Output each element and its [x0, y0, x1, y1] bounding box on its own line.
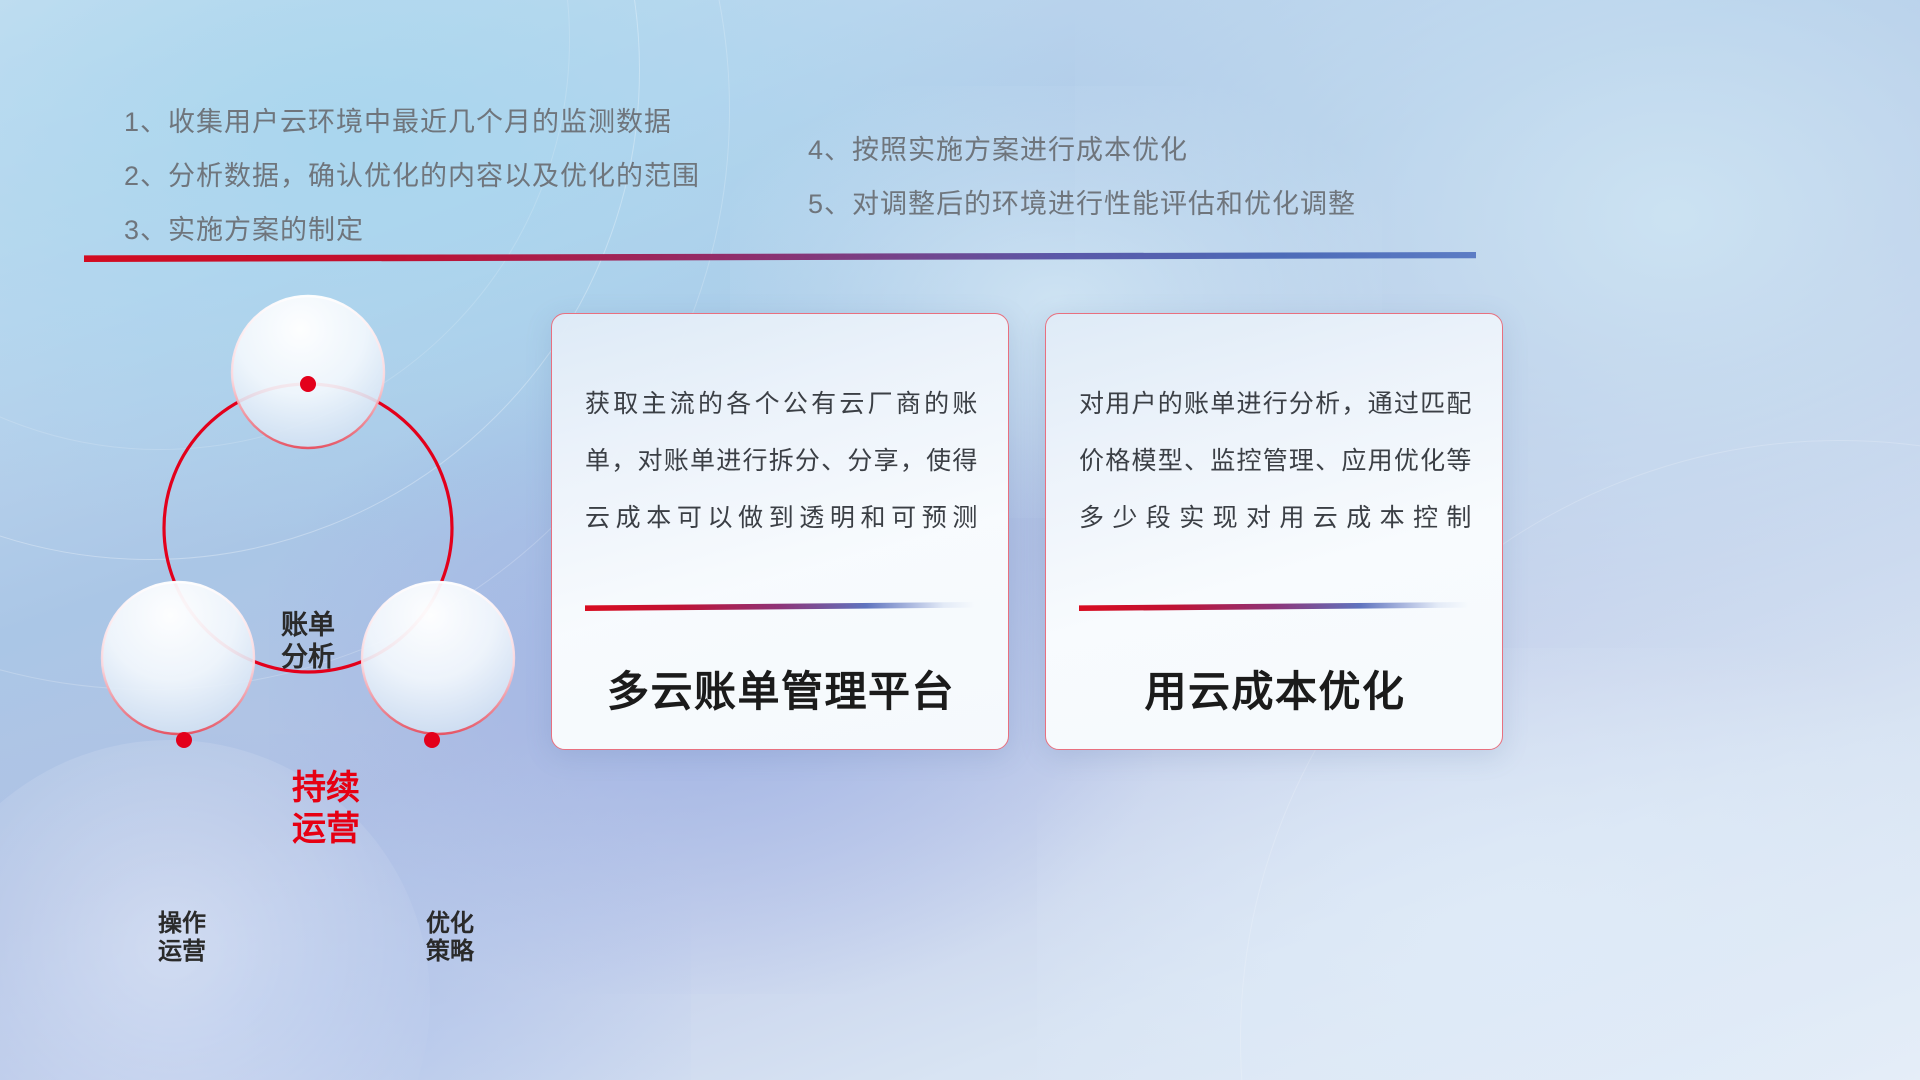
step-item-3: 3、实施方案的制定: [124, 203, 700, 257]
venn-label-top-line1: 账单: [248, 610, 368, 642]
venn-bubble-right: [362, 582, 514, 734]
venn-label-center: 持续 运营: [256, 768, 396, 851]
venn-label-top-line2: 分析: [248, 642, 368, 674]
steps-left-column: 1、收集用户云环境中最近几个月的监测数据 2、分析数据，确认优化的内容以及优化的…: [124, 95, 700, 257]
venn-label-left: 操作 运营: [122, 910, 242, 967]
venn-label-left-line1: 操作: [122, 910, 242, 938]
venn-label-center-line2: 运营: [256, 809, 396, 850]
step-item-1: 1、收集用户云环境中最近几个月的监测数据: [124, 95, 700, 149]
venn-node-dot-right: [424, 732, 440, 748]
venn-diagram-svg: [80, 280, 550, 780]
info-card-cost-optimization[interactable]: 对用户的账单进行分析，通过匹配价格模型、监控管理、应用优化等多少段实现对用云成本…: [1045, 313, 1503, 750]
venn-label-left-line2: 运营: [122, 938, 242, 966]
steps-right-column: 4、按照实施方案进行成本优化 5、对调整后的环境进行性能评估和优化调整: [808, 123, 1356, 231]
info-card-billing-platform[interactable]: 获取主流的各个公有云厂商的账单，对账单进行拆分、分享，使得云成本可以做到透明和可…: [551, 313, 1009, 750]
info-card-title: 用云成本优化: [1079, 658, 1471, 719]
info-card-divider: [1079, 602, 1469, 611]
venn-diagram: 账单 分析 操作 运营 优化 策略 持续 运营: [80, 280, 550, 780]
venn-node-dot-left: [176, 732, 192, 748]
venn-label-center-line1: 持续: [256, 768, 396, 809]
info-card-body: 获取主流的各个公有云厂商的账单，对账单进行拆分、分享，使得云成本可以做到透明和可…: [585, 376, 978, 547]
step-item-5: 5、对调整后的环境进行性能评估和优化调整: [808, 177, 1356, 231]
venn-label-right-line1: 优化: [390, 910, 510, 938]
venn-node-dot-top: [300, 376, 316, 392]
venn-label-top: 账单 分析: [248, 610, 368, 674]
venn-label-right-line2: 策略: [390, 938, 510, 966]
venn-bubble-left: [102, 582, 254, 734]
info-card-body: 对用户的账单进行分析，通过匹配价格模型、监控管理、应用优化等多少段实现对用云成本…: [1079, 376, 1472, 547]
info-card-divider: [585, 602, 975, 611]
venn-bubble-top: [232, 296, 384, 448]
step-item-4: 4、按照实施方案进行成本优化: [808, 123, 1356, 177]
venn-label-right: 优化 策略: [390, 910, 510, 967]
step-item-2: 2、分析数据，确认优化的内容以及优化的范围: [124, 149, 700, 203]
info-card-title: 多云账单管理平台: [585, 658, 977, 719]
